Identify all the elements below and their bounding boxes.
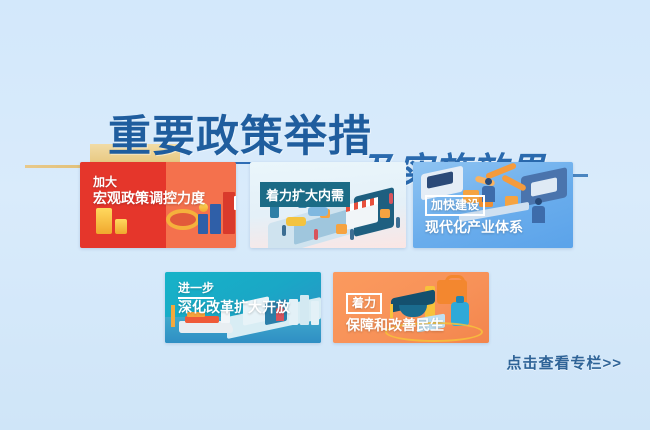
policy-card-label: 加大 宏观政策调控力度 [93,175,205,207]
policy-card-label: 着力 保障和改善民生 [346,293,444,334]
dock-post-yellow [171,305,175,327]
worker-head-2 [535,198,542,205]
policy-card-macro-control[interactable]: 加大 宏观政策调控力度 [80,162,236,248]
policy-card-label: 加快建设 现代化产业体系 [425,195,523,236]
policy-card-livelihood[interactable]: 着力 保障和改善民生 [333,272,489,343]
policy-card-line1: 进一步 [178,281,290,299]
bar-chart-bar-2 [210,204,221,234]
bar-chart-bar-1 [198,214,208,234]
car-yellow-icon [286,217,306,226]
policy-card-line1: 着力 [266,188,292,203]
page-title-area: 重要政策举措 及实施效果 [0,52,650,147]
tower-3 [311,301,319,325]
tower-1 [289,299,298,325]
policy-card-line2: 扩大内需 [292,188,344,203]
parcel-box-1 [336,224,347,234]
coin-stack-icon [96,208,112,234]
pedestrian-1 [282,225,286,236]
bottle-cap-icon [456,296,464,303]
pedestrian-3 [350,229,354,240]
cargo-containers-red [185,316,219,323]
view-column-link[interactable]: 点击查看专栏>> [506,352,622,373]
policy-card-line1: 加大 [93,175,205,190]
policy-card-line2: 保障和改善民生 [346,317,444,334]
policy-card-expand-demand[interactable]: 着力扩大内需 [250,162,406,248]
pedestrian-5 [396,217,400,228]
backpack-handle-icon [445,275,465,287]
policy-card-reform-opening[interactable]: 进一步 深化改革扩大开放 [165,272,321,343]
person-clipboard-icon [234,196,236,210]
page-title: 重要政策举措 [108,114,372,160]
policy-card-label: 着力扩大内需 [260,182,350,207]
worker-head-1 [485,178,492,185]
pedestrian-4 [389,193,393,204]
policy-card-line2: 现代化产业体系 [425,219,523,236]
banner-root: 重要政策举措 及实施效果 加大 宏观政策调控力度 [0,0,650,430]
policy-card-line2: 深化改革扩大开放 [178,299,290,316]
policy-card-line1: 着力 [346,293,444,317]
policy-card-modern-industry[interactable]: 加快建设 现代化产业体系 [413,162,573,248]
worker-body-2 [532,206,545,223]
parcel-box-3 [380,209,390,218]
policy-card-line2: 宏观政策调控力度 [93,190,205,207]
coin-stack-small-icon [115,219,127,234]
coin-ring-icon [166,209,200,230]
tower-2 [300,295,309,325]
policy-card-label: 进一步 深化改革扩大开放 [178,281,290,316]
policy-card-line1: 加快建设 [425,195,523,219]
car-blue-icon [308,207,328,216]
pedestrian-2 [314,229,318,240]
